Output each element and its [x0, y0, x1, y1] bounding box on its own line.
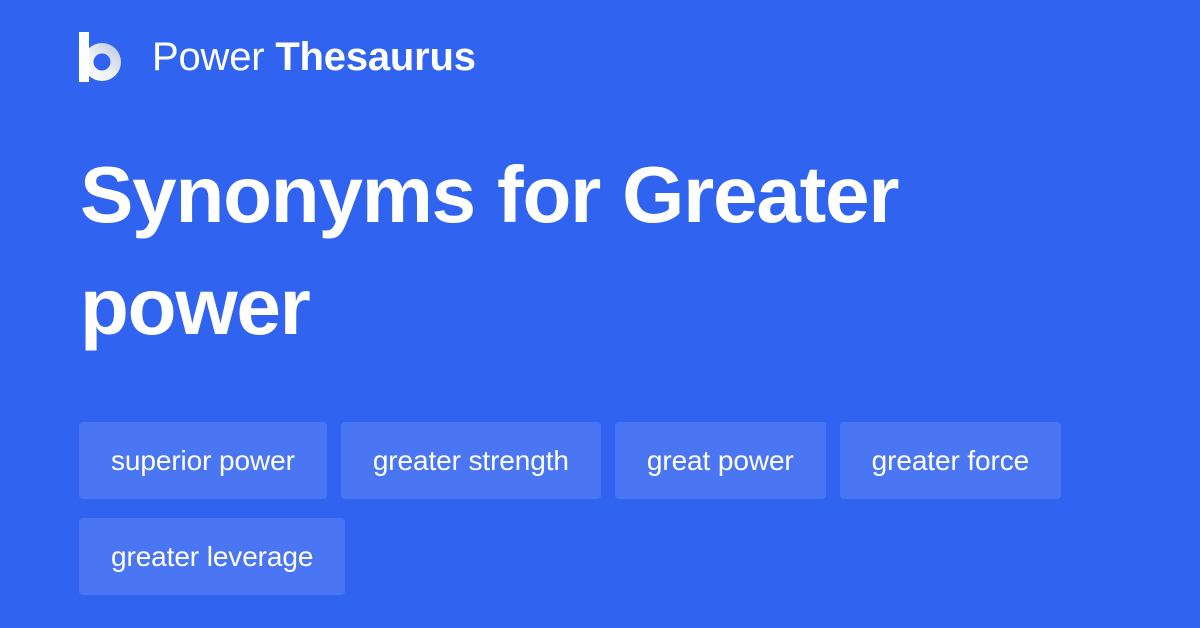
brand-wordmark: Power Thesaurus	[152, 32, 476, 82]
synonym-chip-list: superior power greater strength great po…	[79, 422, 1119, 595]
share-card: Power Thesaurus Synonyms for Greater pow…	[0, 0, 1200, 628]
page-title: Synonyms for Greater power	[80, 139, 980, 363]
synonym-chip[interactable]: greater strength	[341, 422, 601, 499]
power-thesaurus-b-logo-icon	[79, 32, 125, 82]
brand-word-thesaurus: Thesaurus	[275, 35, 476, 79]
brand-logo[interactable]: Power Thesaurus	[79, 28, 476, 86]
synonym-chip[interactable]: great power	[615, 422, 826, 499]
synonym-chip[interactable]: superior power	[79, 422, 327, 499]
synonym-chip[interactable]: greater leverage	[79, 518, 345, 595]
brand-word-power: Power	[152, 35, 264, 79]
synonym-chip[interactable]: greater force	[840, 422, 1061, 499]
